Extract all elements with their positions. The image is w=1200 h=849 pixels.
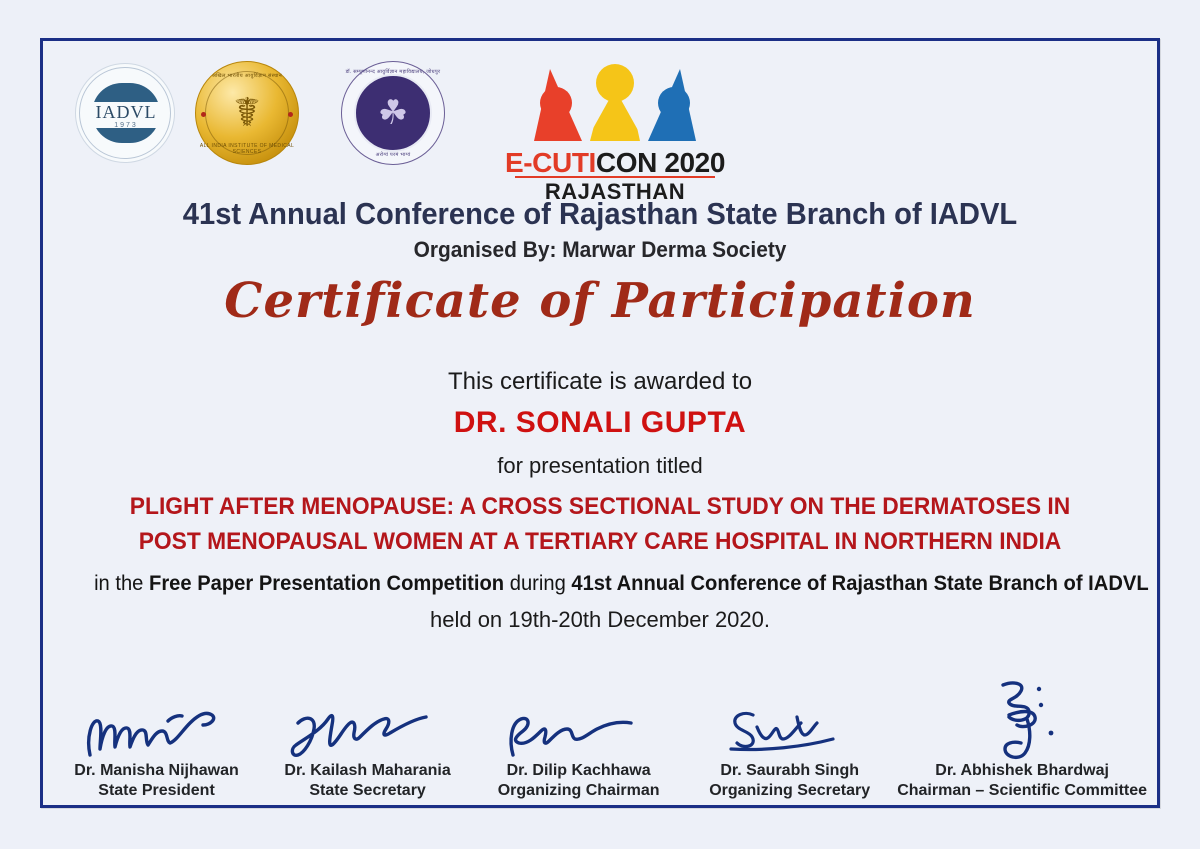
competition-line: in the Free Paper Presentation Competiti… xyxy=(94,572,1106,596)
awarded-to-label: This certificate is awarded to xyxy=(43,368,1157,396)
certificate-border-frame: IADVL 1973 अखिल भारतीय आयुर्विज्ञान संस्… xyxy=(40,38,1160,808)
signature-block: Dr. Saurabh Singh Organizing Secretary xyxy=(684,675,895,801)
aiims-ring-text-bottom: ALL INDIA INSTITUTE OF MEDICAL SCIENCES xyxy=(196,143,298,155)
signature-mark-dilip xyxy=(475,675,682,761)
signature-mark-saurabh xyxy=(686,675,893,761)
logo-row: IADVL 1973 अखिल भारतीय आयुर्विज्ञान संस्… xyxy=(43,55,1157,175)
signatory-name: Dr. Dilip Kachhawa xyxy=(475,761,682,781)
aiims-ring-text-top: अखिल भारतीय आयुर्विज्ञान संस्थान xyxy=(196,73,298,79)
recipient-name: DR. SONALI GUPTA xyxy=(43,406,1157,440)
aiims-dot-left xyxy=(201,112,206,117)
e-cuticon-figures xyxy=(520,59,710,144)
signature-block: Dr. Manisha Nijhawan State President xyxy=(51,675,262,801)
aiims-dot-right xyxy=(288,112,293,117)
e-cuticon-logo: E-CUTICON 2020 RAJASTHAN xyxy=(501,59,729,204)
college-disc: ☘ xyxy=(354,74,432,152)
held-on-line: held on 19th-20th December 2020. xyxy=(43,607,1157,633)
e-cuticon-word-red: E-CUTI xyxy=(505,147,596,178)
signatory-name: Dr. Kailash Maharania xyxy=(264,761,471,781)
signatory-role: State Secretary xyxy=(264,781,471,801)
conference-title: 41st Annual Conference of Rajasthan Stat… xyxy=(76,196,1123,232)
competition-name: Free Paper Presentation Competition xyxy=(149,572,504,595)
signatory-role: Organizing Chairman xyxy=(475,781,682,801)
competition-prefix: in the xyxy=(94,572,149,595)
signatory-role: State President xyxy=(53,781,260,801)
presentation-label: for presentation titled xyxy=(43,453,1157,479)
iadvl-brand-text: IADVL xyxy=(76,102,175,123)
college-ring-text-bottom: अरोग्यं परमं भाग्यं xyxy=(342,152,444,158)
signature-block: Dr. Kailash Maharania State Secretary xyxy=(262,675,473,801)
signatory-name: Dr. Saurabh Singh xyxy=(686,761,893,781)
competition-middle: during xyxy=(504,572,571,595)
presentation-title: PLIGHT AFTER MENOPAUSE: A CROSS SECTIONA… xyxy=(128,489,1072,559)
e-cuticon-wordmark: E-CUTICON 2020 xyxy=(501,147,729,179)
college-emblem-icon: ☘ xyxy=(378,96,408,130)
caduceus-icon: ☤ xyxy=(234,93,261,133)
iadvl-logo: IADVL 1973 xyxy=(75,63,175,163)
organiser-line: Organised By: Marwar Derma Society xyxy=(71,237,1129,263)
aiims-logo: अखिल भारतीय आयुर्विज्ञान संस्थान ☤ ALL I… xyxy=(195,61,299,165)
signatory-name: Dr. Manisha Nijhawan xyxy=(53,761,260,781)
signatory-role: Chairman – Scientific Committee xyxy=(897,781,1147,801)
signature-row: Dr. Manisha Nijhawan State President Dr.… xyxy=(51,649,1149,801)
signature-mark-abhishek xyxy=(897,675,1147,761)
signature-block: Dr. Dilip Kachhawa Organizing Chairman xyxy=(473,675,684,801)
certificate-of-participation-heading: Certificate of Participation xyxy=(43,273,1157,329)
signatory-name: Dr. Abhishek Bhardwaj xyxy=(897,761,1147,781)
signature-mark-kailash xyxy=(264,675,471,761)
signature-mark-manisha xyxy=(53,675,260,761)
signature-block: Dr. Abhishek Bhardwaj Chairman – Scienti… xyxy=(895,675,1149,801)
signatory-role: Organizing Secretary xyxy=(686,781,893,801)
iadvl-year-text: 1973 xyxy=(76,122,175,129)
certificate-page: IADVL 1973 अखिल भारतीय आयुर्विज्ञान संस्… xyxy=(0,0,1200,849)
e-cuticon-word-dark: CON 2020 xyxy=(596,147,725,178)
e-cuticon-underline xyxy=(515,176,715,178)
competition-conference-name: 41st Annual Conference of Rajasthan Stat… xyxy=(571,572,1148,595)
medical-college-logo: डॉ. सम्पूर्णानन्द आयुर्विज्ञान महाविद्या… xyxy=(341,61,445,165)
